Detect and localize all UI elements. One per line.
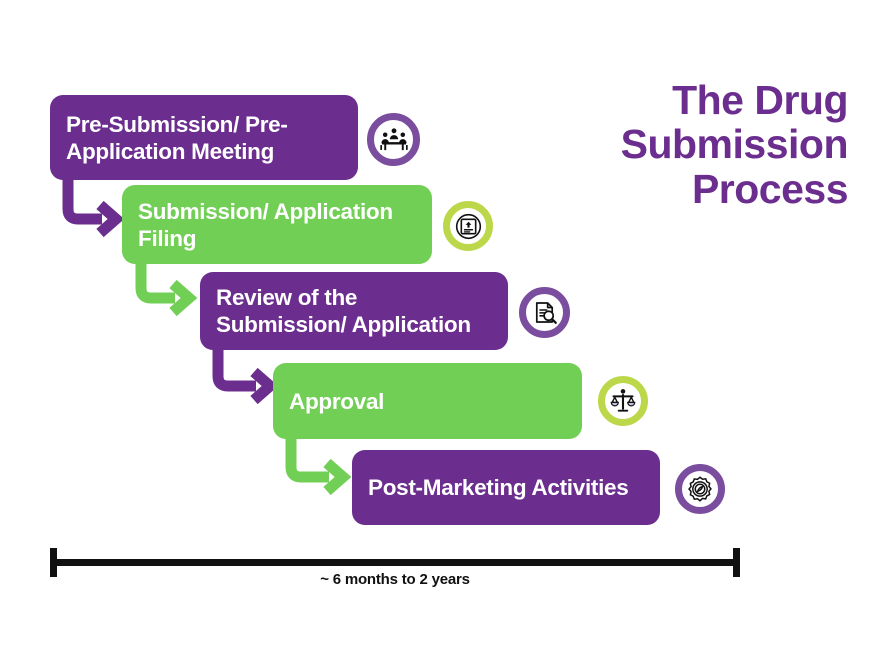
scales-of-justice-icon bbox=[598, 376, 648, 426]
page-title-line-2: Submission bbox=[428, 122, 848, 166]
connector-step-2-to-step-3 bbox=[135, 258, 205, 318]
infographic-canvas: The Drug Submission Process Pre-Sub bbox=[0, 0, 896, 672]
flow-step-2-label-line-2: Filing bbox=[138, 225, 393, 252]
document-upload-icon bbox=[443, 201, 493, 251]
flow-step-1-label-line-2: Application Meeting bbox=[66, 138, 288, 165]
timeline-line bbox=[50, 559, 740, 566]
flow-step-5-label-line-1: Post-Marketing Activities bbox=[368, 474, 628, 501]
flow-step-4-approval[interactable]: Approval bbox=[273, 363, 582, 439]
document-magnifier-icon bbox=[519, 287, 570, 338]
connector-step-4-to-step-5 bbox=[285, 433, 360, 493]
gear-badge-icon bbox=[675, 464, 725, 514]
meeting-table-icon bbox=[367, 113, 420, 166]
flow-step-1-pre-submission-meeting[interactable]: Pre-Submission/ Pre- Application Meeting bbox=[50, 95, 358, 180]
flow-step-5-post-marketing-activities[interactable]: Post-Marketing Activities bbox=[352, 450, 660, 525]
flow-step-3-review-of-submission[interactable]: Review of the Submission/ Application bbox=[200, 272, 508, 350]
flow-step-3-label: Review of the Submission/ Application bbox=[216, 284, 471, 338]
flow-step-2-label: Submission/ Application Filing bbox=[138, 198, 393, 252]
flow-step-2-label-line-1: Submission/ Application bbox=[138, 198, 393, 225]
flow-step-4-label-line-1: Approval bbox=[289, 388, 384, 415]
page-title: The Drug Submission Process bbox=[428, 78, 848, 211]
page-title-line-3: Process bbox=[428, 167, 848, 211]
timeline-caption: ~ 6 months to 2 years bbox=[50, 571, 740, 588]
flow-step-3-label-line-2: Submission/ Application bbox=[216, 311, 471, 338]
flow-step-4-label: Approval bbox=[289, 388, 384, 415]
flow-step-5-label: Post-Marketing Activities bbox=[368, 474, 628, 501]
flow-step-1-label-line-1: Pre-Submission/ Pre- bbox=[66, 111, 288, 138]
page-title-line-1: The Drug bbox=[428, 78, 848, 122]
flow-step-2-submission-filing[interactable]: Submission/ Application Filing bbox=[122, 185, 432, 264]
flow-step-1-label: Pre-Submission/ Pre- Application Meeting bbox=[66, 111, 288, 165]
flow-step-3-label-line-1: Review of the bbox=[216, 284, 471, 311]
